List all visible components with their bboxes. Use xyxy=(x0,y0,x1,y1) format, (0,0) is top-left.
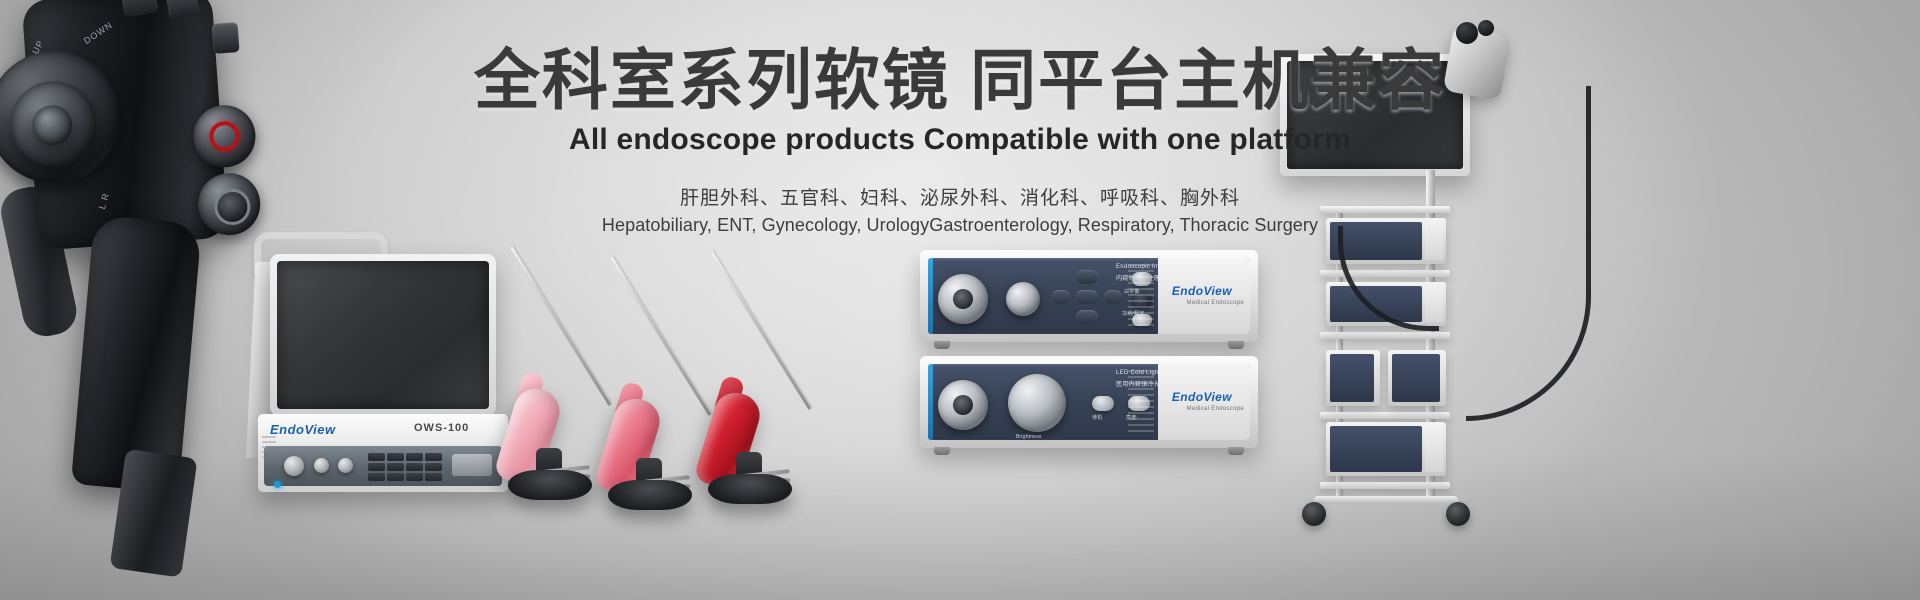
processor-foot-right xyxy=(1228,341,1244,349)
light-source-blue-accent xyxy=(928,364,933,440)
light-source-foot-right xyxy=(1228,447,1244,455)
cart-caster-right xyxy=(1446,502,1470,526)
cart-shelf-5 xyxy=(1320,482,1450,489)
cart-device-4 xyxy=(1388,350,1446,406)
laparoscopic-instrument-red xyxy=(700,252,860,512)
cart-caster-left xyxy=(1302,502,1326,526)
instrument-stand-base xyxy=(608,480,692,510)
heading-english: All endoscope products Compatible with o… xyxy=(0,123,1920,157)
light-source-unit: Brightness LED Cold Light Source 医用内窥镜冷光… xyxy=(920,356,1258,448)
light-source-brand-label: EndoView xyxy=(1172,390,1232,404)
subtitle-english: Hepatobiliary, ENT, Gynecology, UrologyG… xyxy=(0,215,1920,236)
heading-chinese: 全科室系列软镜 同平台主机兼容 xyxy=(0,46,1920,115)
subtitle-chinese: 肝胆外科、五官科、妇科、泌尿外科、消化科、呼吸科、胸外科 xyxy=(0,183,1920,210)
light-source-brand-sub-label: Medical Endoscope xyxy=(1187,406,1244,412)
cart-base xyxy=(1314,496,1458,504)
instrument-stand-base xyxy=(708,474,792,504)
light-source-button-label-1: 待机 xyxy=(1092,414,1102,421)
processor-stack-image: Endoscopic Image Processor 内窥镜影像处理器 白平衡 … xyxy=(920,250,1270,470)
processor-secondary-knob xyxy=(1006,282,1040,316)
light-source-brightness-knob xyxy=(1008,374,1066,432)
instrument-stand-base xyxy=(508,470,592,500)
banner-text-block: 全科室系列软镜 同平台主机兼容 All endoscope products C… xyxy=(0,46,1920,236)
processor-brand-sub-label: Medical Endoscope xyxy=(1187,300,1244,306)
processor-blue-accent xyxy=(928,258,933,334)
light-source-vent xyxy=(1128,370,1154,434)
cart-scope-knob-large xyxy=(1456,22,1478,44)
cart-device-5 xyxy=(1326,422,1446,476)
processor-foot-left xyxy=(934,341,950,349)
light-source-foot-left xyxy=(934,447,950,455)
light-source-button-standby xyxy=(1092,396,1114,411)
processor-keypad xyxy=(1052,270,1124,324)
console-port-block xyxy=(452,454,492,476)
light-source-fiber-port xyxy=(938,380,988,430)
console-model-label: OWS-100 xyxy=(414,422,469,434)
cart-shelf-3 xyxy=(1320,332,1450,339)
processor-main-knob xyxy=(938,274,988,324)
product-banner: UP DOWN L R EndoView OWS-100 xyxy=(0,0,1920,600)
cart-device-3 xyxy=(1326,350,1380,406)
cart-shelf-4 xyxy=(1320,412,1450,419)
image-processor-unit: Endoscopic Image Processor 内窥镜影像处理器 白平衡 … xyxy=(920,250,1258,342)
light-source-knob-label: Brightness xyxy=(1016,434,1042,440)
processor-brand-label: EndoView xyxy=(1172,284,1232,298)
processor-vent xyxy=(1128,264,1154,328)
cart-scope-knob-small xyxy=(1478,20,1494,36)
